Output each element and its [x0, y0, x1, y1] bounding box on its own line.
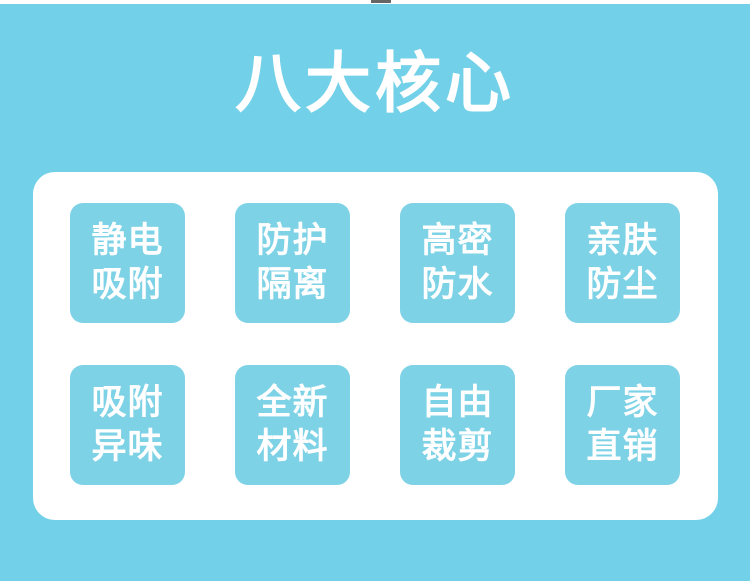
feature-card-4-line-1: 亲肤 [586, 219, 658, 263]
feature-card-5-line-2: 异味 [91, 425, 163, 469]
product-feature-poster: 八大核心 静电 吸附 防护 隔离 高密 防水 亲肤 防尘 [0, 0, 750, 581]
page-title: 八大核心 [0, 44, 750, 124]
feature-card-2-line-2: 隔离 [256, 263, 328, 307]
features-grid: 静电 吸附 防护 隔离 高密 防水 亲肤 防尘 吸附 [70, 203, 681, 485]
feature-card-8-line-1: 厂家 [586, 381, 658, 425]
features-row-2: 吸附 异味 全新 材料 自由 裁剪 厂家 直销 [70, 365, 681, 485]
feature-card-5[interactable]: 吸附 异味 [70, 365, 185, 485]
feature-card-7-line-1: 自由 [421, 381, 493, 425]
feature-card-6[interactable]: 全新 材料 [235, 365, 350, 485]
feature-card-8[interactable]: 厂家 直销 [565, 365, 680, 485]
feature-card-1[interactable]: 静电 吸附 [70, 203, 185, 323]
top-cropped-element-sliver [371, 0, 391, 3]
feature-card-2-line-1: 防护 [256, 219, 328, 263]
feature-card-5-line-1: 吸附 [91, 381, 163, 425]
feature-card-8-line-2: 直销 [586, 425, 658, 469]
feature-card-3-line-1: 高密 [421, 219, 493, 263]
feature-card-3[interactable]: 高密 防水 [400, 203, 515, 323]
feature-card-4[interactable]: 亲肤 防尘 [565, 203, 680, 323]
feature-card-6-line-2: 材料 [256, 425, 328, 469]
feature-card-3-line-2: 防水 [421, 263, 493, 307]
feature-card-4-line-2: 防尘 [586, 263, 658, 307]
feature-card-7[interactable]: 自由 裁剪 [400, 365, 515, 485]
feature-card-1-line-1: 静电 [91, 219, 163, 263]
feature-card-6-line-1: 全新 [256, 381, 328, 425]
feature-card-1-line-2: 吸附 [91, 263, 163, 307]
feature-card-2[interactable]: 防护 隔离 [235, 203, 350, 323]
features-row-1: 静电 吸附 防护 隔离 高密 防水 亲肤 防尘 [70, 203, 681, 323]
features-panel: 静电 吸附 防护 隔离 高密 防水 亲肤 防尘 吸附 [33, 172, 718, 520]
feature-card-7-line-2: 裁剪 [421, 425, 493, 469]
